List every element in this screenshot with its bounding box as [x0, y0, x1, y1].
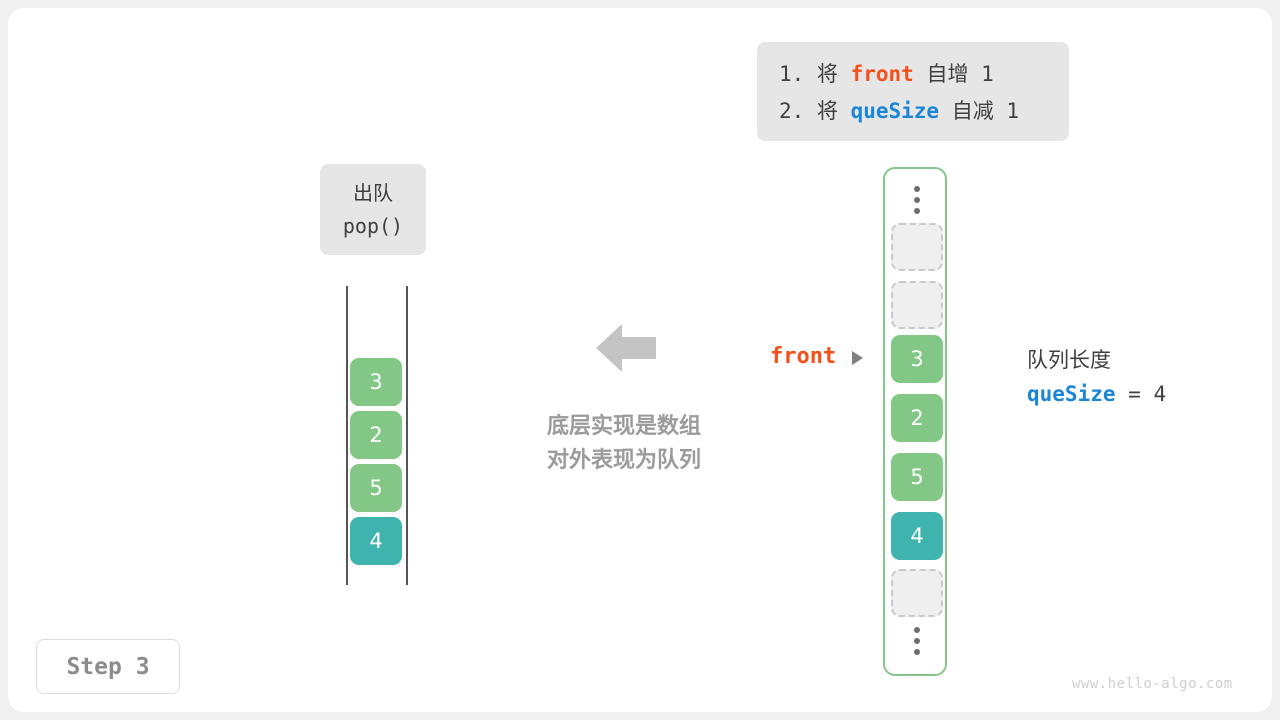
watermark: www.hello-algo.com [1072, 676, 1233, 692]
array-container: 3 2 5 4 [883, 167, 947, 676]
ellipsis-dots-bottom-icon [885, 627, 949, 655]
center-caption-line-2: 对外表现为队列 [520, 444, 728, 478]
instruction-line-2-suffix: 自减 1 [939, 99, 1019, 123]
queue-cell: 4 [350, 517, 402, 565]
step-badge-label: Step 3 [66, 654, 149, 680]
array-slot: 5 [891, 453, 943, 501]
instruction-line-1-keyword: front [851, 62, 914, 86]
queue-cell: 2 [350, 411, 402, 459]
queue-rail-right [406, 286, 408, 585]
instruction-line-1-prefix: 1. 将 [779, 62, 851, 86]
array-slot-empty [891, 569, 943, 617]
quesize-value: 4 [1153, 382, 1166, 406]
instruction-line-2: 2. 将 queSize 自减 1 [779, 93, 1047, 130]
step-badge: Step 3 [36, 639, 180, 694]
array-slot-empty [891, 223, 943, 271]
array-slot-value: 3 [910, 347, 923, 371]
instruction-line-1: 1. 将 front 自增 1 [779, 56, 1047, 93]
array-slot-value: 2 [910, 406, 923, 430]
queue-cell-value: 3 [369, 370, 382, 394]
queue-length-title: 队列长度 [1027, 342, 1111, 378]
array-slot-value: 5 [910, 465, 923, 489]
queue-cell-value: 2 [369, 423, 382, 447]
instruction-line-2-prefix: 2. 将 [779, 99, 851, 123]
queue-cell-value: 5 [369, 476, 382, 500]
operation-title: 出队 [353, 177, 393, 210]
left-arrow-icon [596, 322, 656, 374]
array-slot-empty [891, 281, 943, 329]
front-pointer-label: front [770, 344, 836, 369]
array-slot-value: 4 [910, 524, 923, 548]
queue-rail-left [346, 286, 348, 585]
instruction-box: 1. 将 front 自增 1 2. 将 queSize 自减 1 [757, 42, 1069, 141]
queue-cell: 5 [350, 464, 402, 512]
operation-method: pop() [343, 210, 403, 243]
diagram-canvas: 1. 将 front 自增 1 2. 将 queSize 自减 1 出队 pop… [0, 0, 1280, 720]
queue-length-expression: queSize = 4 [1027, 378, 1166, 410]
quesize-variable: queSize [1027, 382, 1116, 406]
array-slot: 4 [891, 512, 943, 560]
operation-box: 出队 pop() [320, 164, 426, 255]
instruction-line-2-keyword: queSize [851, 99, 940, 123]
array-slot: 3 [891, 335, 943, 383]
queue-cell-value: 4 [369, 529, 382, 553]
instruction-line-1-suffix: 自增 1 [914, 62, 994, 86]
queue-cell: 3 [350, 358, 402, 406]
front-pointer-arrow-icon [852, 351, 863, 365]
array-slot: 2 [891, 394, 943, 442]
center-caption: 底层实现是数组 对外表现为队列 [520, 410, 728, 478]
ellipsis-dots-top-icon [885, 186, 949, 214]
center-caption-line-1: 底层实现是数组 [520, 410, 728, 444]
quesize-equals: = [1116, 382, 1154, 406]
